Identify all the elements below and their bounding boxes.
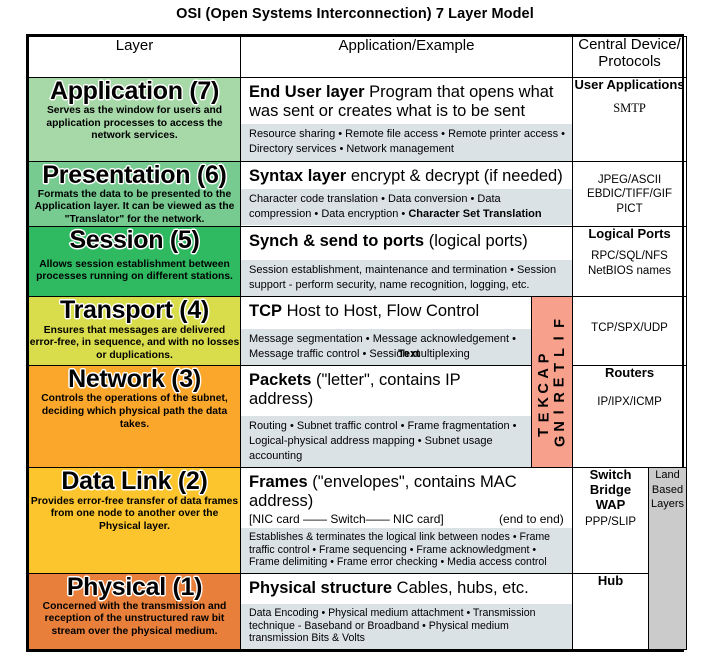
device-cell-application: User Applications SMTP	[573, 78, 687, 162]
device-light-transport: TCP/SPX/UDP	[573, 321, 686, 336]
packet-filtering-band: PACKET FILTERING	[532, 297, 573, 468]
device-bold-session: Logical Ports	[573, 227, 686, 242]
layer-cell-network: Network (3) Controls the operations of t…	[29, 366, 241, 468]
layer-row-network: Network (3) Controls the operations of t…	[29, 366, 687, 468]
app-cell-network: Packets ("letter", contains IP address) …	[241, 366, 532, 468]
header-application: Application/Example	[241, 37, 573, 78]
header-central-device: Central Device/ Protocols	[573, 37, 687, 78]
device-bold-network: Routers	[573, 366, 686, 381]
device-bold-application: User Applications	[573, 78, 686, 93]
device-light-session: RPC/SQL/NFS NetBIOS names	[573, 249, 686, 278]
page-title: OSI (Open Systems Interconnection) 7 Lay…	[0, 6, 710, 22]
app-cell-transport: TCP Host to Host, Flow Control Message s…	[241, 297, 532, 366]
app-cell-session: Synch & send to ports (logical ports) Se…	[241, 227, 573, 297]
app-details-presentation: Character code translation • Data conver…	[241, 189, 572, 225]
device-light-presentation: JPEG/ASCII EBDIC/TIFF/GIF PICT	[573, 173, 686, 217]
layer-title-network: Network (3)	[29, 366, 240, 392]
layer-cell-transport: Transport (4) Ensures that messages are …	[29, 297, 241, 366]
device-cell-datalink: Switch Bridge WAP PPP/SLIP	[573, 468, 649, 573]
layer-description-presentation: Formats the data to be presented to the …	[29, 189, 240, 227]
app-head-transport: TCP Host to Host, Flow Control	[241, 297, 531, 329]
layer-row-datalink: Data Link (2) Provides error-free transf…	[29, 468, 687, 573]
device-light-datalink: PPP/SLIP	[573, 515, 648, 530]
device-cell-physical: Hub	[573, 573, 649, 649]
layer-description-physical: Concerned with the transmission and rece…	[29, 601, 240, 639]
header-device-line2: Protocols	[573, 54, 686, 71]
app-details-application: Resource sharing • Remote file access • …	[241, 124, 572, 160]
device-light-network: IP/IPX/ICMP	[573, 395, 686, 410]
app-head-datalink: Frames ("envelopes", contains MAC addres…	[241, 468, 572, 510]
layer-row-application: Application (7) Serves as the window for…	[29, 78, 687, 162]
app-head-presentation: Syntax layer encrypt & decrypt (if neede…	[241, 162, 572, 190]
layer-title-physical: Physical (1)	[29, 574, 240, 600]
device-bold-physical: Hub	[573, 574, 648, 589]
layer-row-transport: Transport (4) Ensures that messages are …	[29, 297, 687, 366]
app-head-session: Synch & send to ports (logical ports)	[241, 227, 572, 260]
vertical-label-filtering: FILTERING	[553, 316, 566, 449]
osi-diagram: OSI (Open Systems Interconnection) 7 Lay…	[0, 0, 710, 619]
land-line3: Layers	[649, 497, 686, 511]
device-cell-session: Logical Ports RPC/SQL/NFS NetBIOS names	[573, 227, 687, 297]
device-bold-datalink: Switch Bridge WAP	[573, 468, 648, 513]
layer-title-application: Application (7)	[29, 78, 240, 104]
app-cell-presentation: Syntax layer encrypt & decrypt (if neede…	[241, 161, 573, 227]
app-details-session: Session establishment, maintenance and t…	[241, 260, 572, 296]
layer-cell-presentation: Presentation (6) Formats the data to be …	[29, 161, 241, 227]
app-cell-datalink: Frames ("envelopes", contains MAC addres…	[241, 468, 573, 573]
layer-row-presentation: Presentation (6) Formats the data to be …	[29, 161, 687, 227]
layer-title-presentation: Presentation (6)	[29, 162, 240, 188]
device-cell-presentation: JPEG/ASCII EBDIC/TIFF/GIF PICT	[573, 161, 687, 227]
app-subline-datalink: [NIC card —— Switch—— NIC card] (end to …	[241, 511, 572, 528]
layer-description-transport: Ensures that messages are delivered erro…	[29, 325, 240, 363]
layer-description-session: Allows session establishment between pro…	[29, 259, 240, 284]
layer-title-session: Session (5)	[29, 227, 240, 253]
layer-cell-session: Session (5) Allows session establishment…	[29, 227, 241, 297]
app-head-network: Packets ("letter", contains IP address)	[241, 366, 531, 416]
layer-cell-datalink: Data Link (2) Provides error-free transf…	[29, 468, 241, 573]
land-based-layers-band: Land Based Layers	[649, 468, 687, 649]
device-cell-transport: TCP/SPX/UDP	[573, 297, 687, 366]
layer-description-network: Controls the operations of the subnet, d…	[29, 393, 240, 431]
app-head-application: End User layer Program that opens what w…	[241, 78, 572, 124]
text-overlay-artifact: Text	[398, 347, 420, 362]
layer-description-application: Serves as the window for users and appli…	[29, 105, 240, 143]
layer-row-physical: Physical (1) Concerned with the transmis…	[29, 573, 687, 649]
app-details-datalink: Establishes & terminates the logical lin…	[241, 528, 572, 573]
device-cell-network: Routers IP/IPX/ICMP	[573, 366, 687, 468]
land-line2: Based	[649, 483, 686, 497]
layer-title-datalink: Data Link (2)	[29, 468, 240, 494]
layer-description-datalink: Provides error-free transfer of data fra…	[29, 496, 240, 534]
app-details-network: Routing • Subnet traffic control • Frame…	[241, 416, 531, 467]
app-cell-application: End User layer Program that opens what w…	[241, 78, 573, 162]
table-header-row: Layer Application/Example Central Device…	[29, 37, 687, 78]
header-layer: Layer	[29, 37, 241, 78]
layer-row-session: Session (5) Allows session establishment…	[29, 227, 687, 297]
land-line1: Land	[649, 468, 686, 482]
layer-cell-application: Application (7) Serves as the window for…	[29, 78, 241, 162]
header-device-line1: Central Device/	[573, 37, 686, 54]
app-cell-physical: Physical structure Cables, hubs, etc. Da…	[241, 573, 573, 649]
device-light-application: SMTP	[573, 100, 686, 116]
app-details-transport: Message segmentation • Message acknowled…	[241, 329, 531, 365]
layer-cell-physical: Physical (1) Concerned with the transmis…	[29, 573, 241, 649]
app-head-physical: Physical structure Cables, hubs, etc.	[241, 574, 572, 605]
app-details-physical: Data Encoding • Physical medium attachme…	[241, 604, 572, 649]
layer-title-transport: Transport (4)	[29, 297, 240, 323]
osi-table: Layer Application/Example Central Device…	[26, 34, 684, 652]
